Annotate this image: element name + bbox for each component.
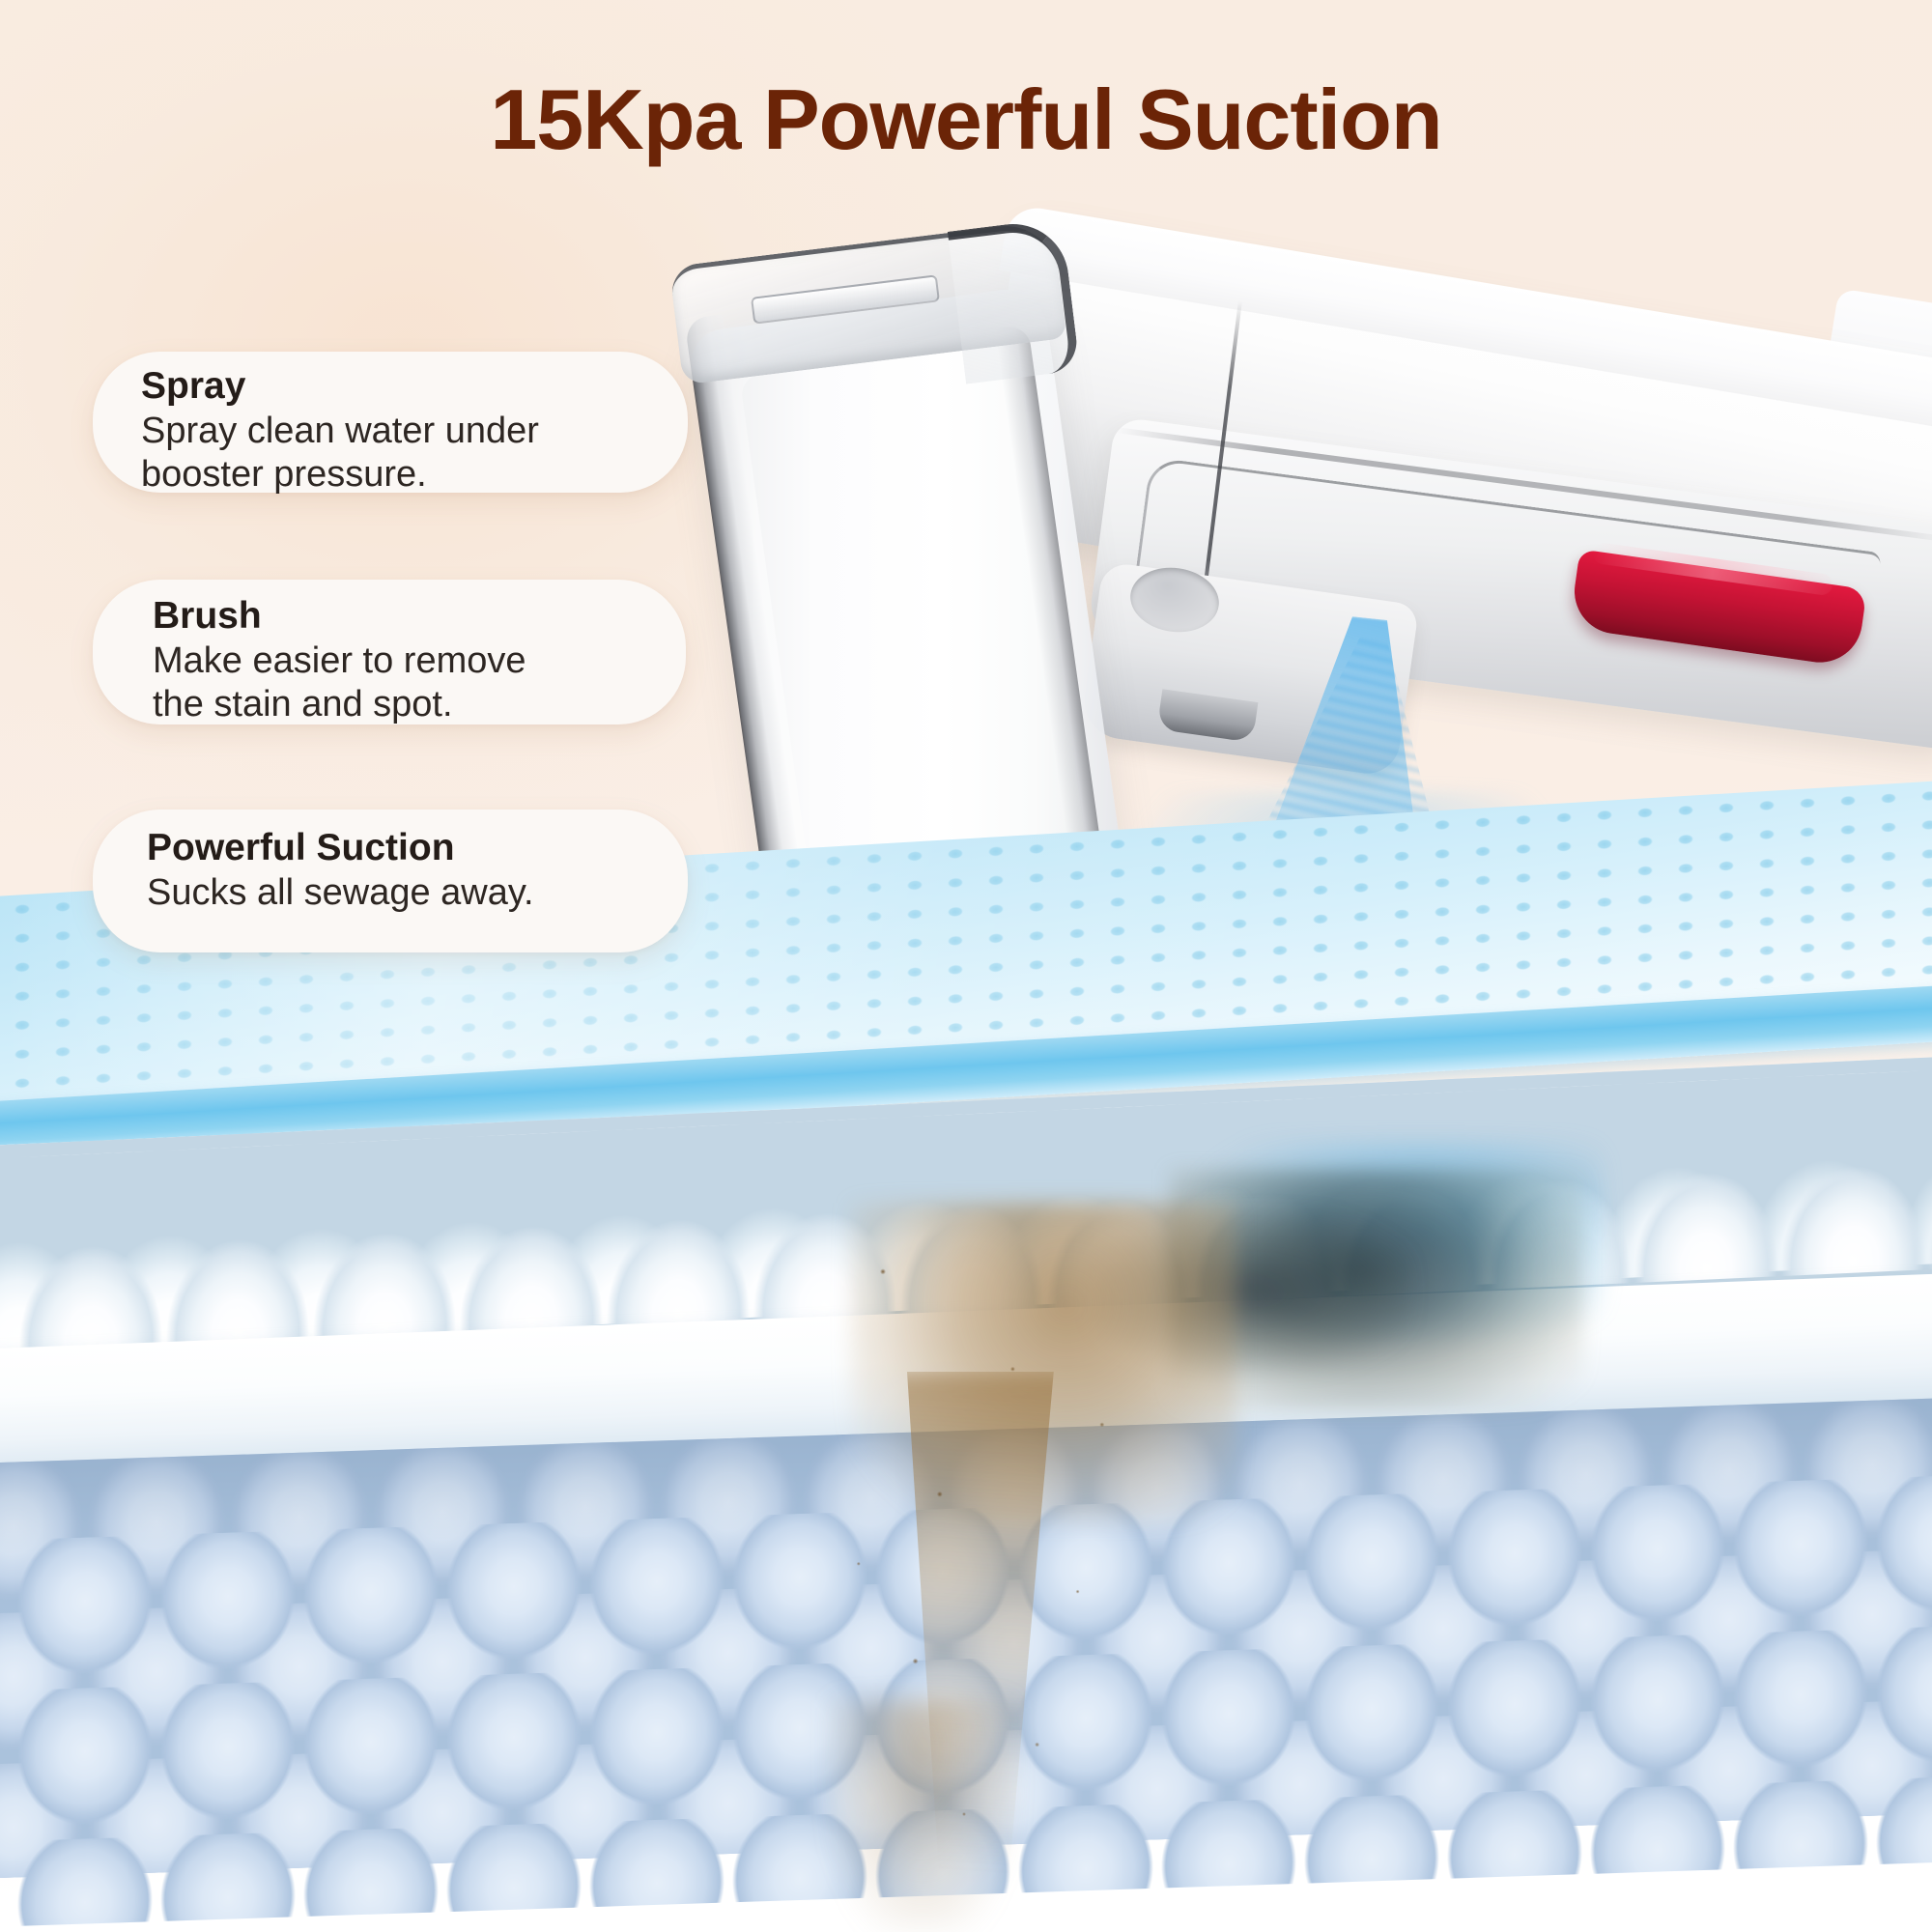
infographic-canvas: 15Kpa Powerful Suction — [0, 0, 1932, 1932]
feature-card-powerful-suction[interactable]: Powerful Suction Sucks all sewage away. — [93, 810, 688, 952]
feature-card-brush-line1: Make easier to remove — [153, 639, 526, 683]
dirt-particles — [802, 1188, 1207, 1884]
feature-card-powerful-suction-content: Powerful Suction Sucks all sewage away. — [147, 827, 534, 915]
feature-card-spray-line1: Spray clean water under — [141, 410, 539, 453]
feature-card-spray-line2: booster pressure. — [141, 453, 539, 497]
feature-card-powerful-suction-line1: Sucks all sewage away. — [147, 871, 534, 915]
feature-card-brush[interactable]: Brush Make easier to remove the stain an… — [93, 580, 686, 724]
feature-card-list: Spray Spray clean water under booster pr… — [0, 0, 753, 1063]
feature-card-brush-line2: the stain and spot. — [153, 683, 526, 726]
feature-card-spray-title: Spray — [141, 365, 539, 408]
feature-card-spray[interactable]: Spray Spray clean water under booster pr… — [93, 352, 688, 493]
feature-card-spray-content: Spray Spray clean water under booster pr… — [141, 365, 539, 496]
head-lip-hook — [948, 217, 1080, 384]
feature-card-powerful-suction-title: Powerful Suction — [147, 827, 534, 869]
feature-card-brush-title: Brush — [153, 595, 526, 638]
feature-card-brush-content: Brush Make easier to remove the stain an… — [153, 595, 526, 725]
